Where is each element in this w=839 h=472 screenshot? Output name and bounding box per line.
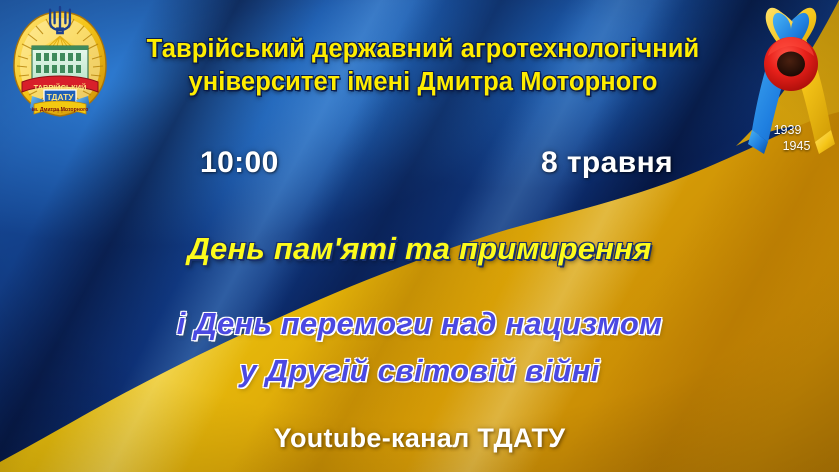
poster-canvas: ТАВРІЙСЬКИЙ ТДАТУ ім. Дмитра Моторного [0, 0, 839, 472]
logo-shield-text: ТДАТУ [47, 92, 75, 102]
event-time: 10:00 [200, 146, 279, 180]
university-logo: ТАВРІЙСЬКИЙ ТДАТУ ім. Дмитра Моторного [8, 4, 112, 120]
building-icon [32, 46, 88, 80]
broadcast-channel: Youtube-канал ТДАТУ [0, 423, 839, 454]
headline-secondary: і День перемоги над нацизмом у Другій св… [0, 300, 839, 394]
headline-primary: День пам'яті та примирення [0, 231, 839, 267]
poppy-icon [764, 37, 818, 91]
logo-banner-bottom-text: ім. Дмитра Моторного [32, 107, 89, 113]
institution-title: Таврійський державний агротехнологічний … [108, 33, 738, 99]
event-date: 8 травня [541, 146, 673, 180]
memorial-ribbon: 1939 1945 [744, 2, 839, 170]
